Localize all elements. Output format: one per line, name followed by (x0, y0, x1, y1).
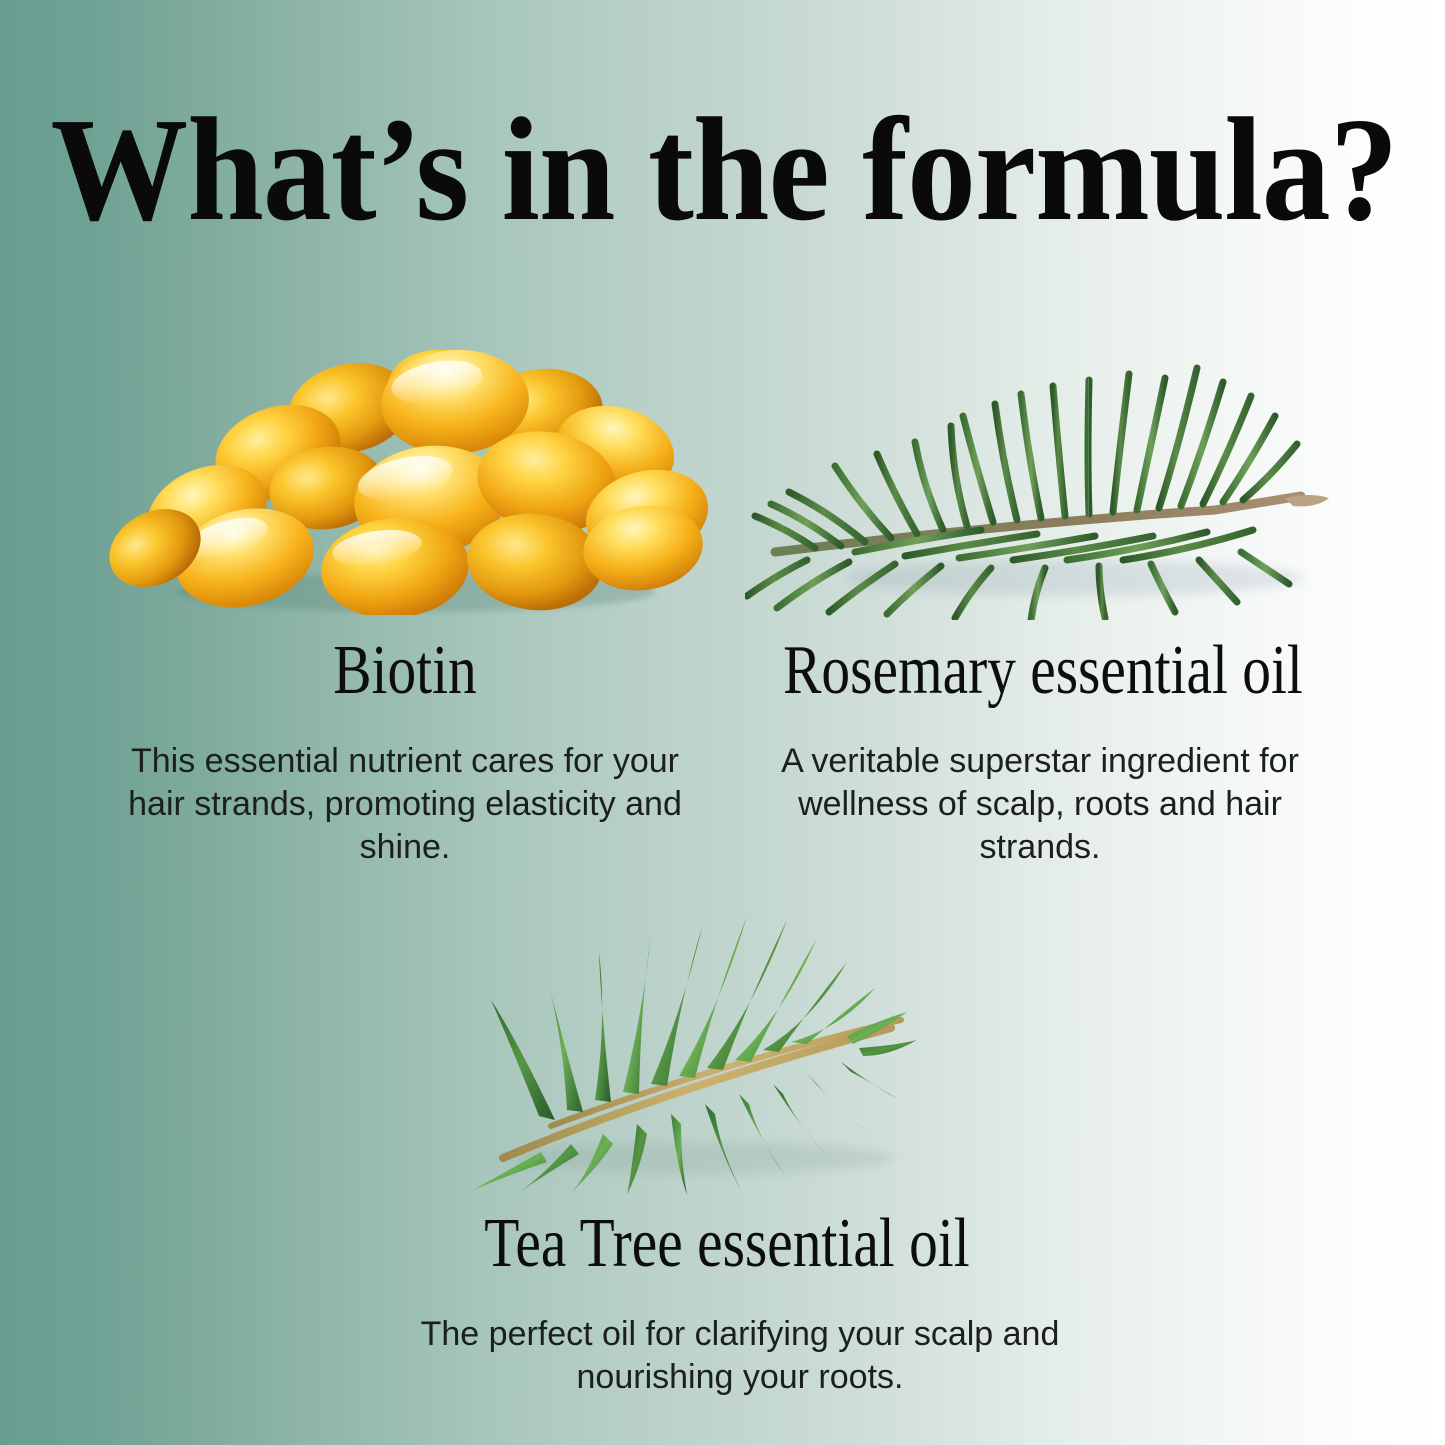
infographic-canvas: What’s in the formula? (0, 0, 1445, 1445)
biotin-softgel-capsules-photo (95, 330, 725, 615)
teatree-heading: Tea Tree essential oil (440, 1209, 1014, 1279)
tea-tree-sprig-photo (455, 890, 955, 1195)
teatree-description: The perfect oil for clarifying your scal… (370, 1313, 1110, 1399)
biotin-description: This essential nutrient cares for your h… (110, 740, 700, 869)
biotin-heading: Biotin (118, 636, 692, 706)
page-title: What’s in the formula? (51, 96, 1395, 244)
rosemary-heading: Rosemary essential oil (756, 636, 1330, 706)
rosemary-description: A veritable superstar ingredient for wel… (740, 740, 1340, 869)
rosemary-sprig-photo (745, 320, 1355, 620)
